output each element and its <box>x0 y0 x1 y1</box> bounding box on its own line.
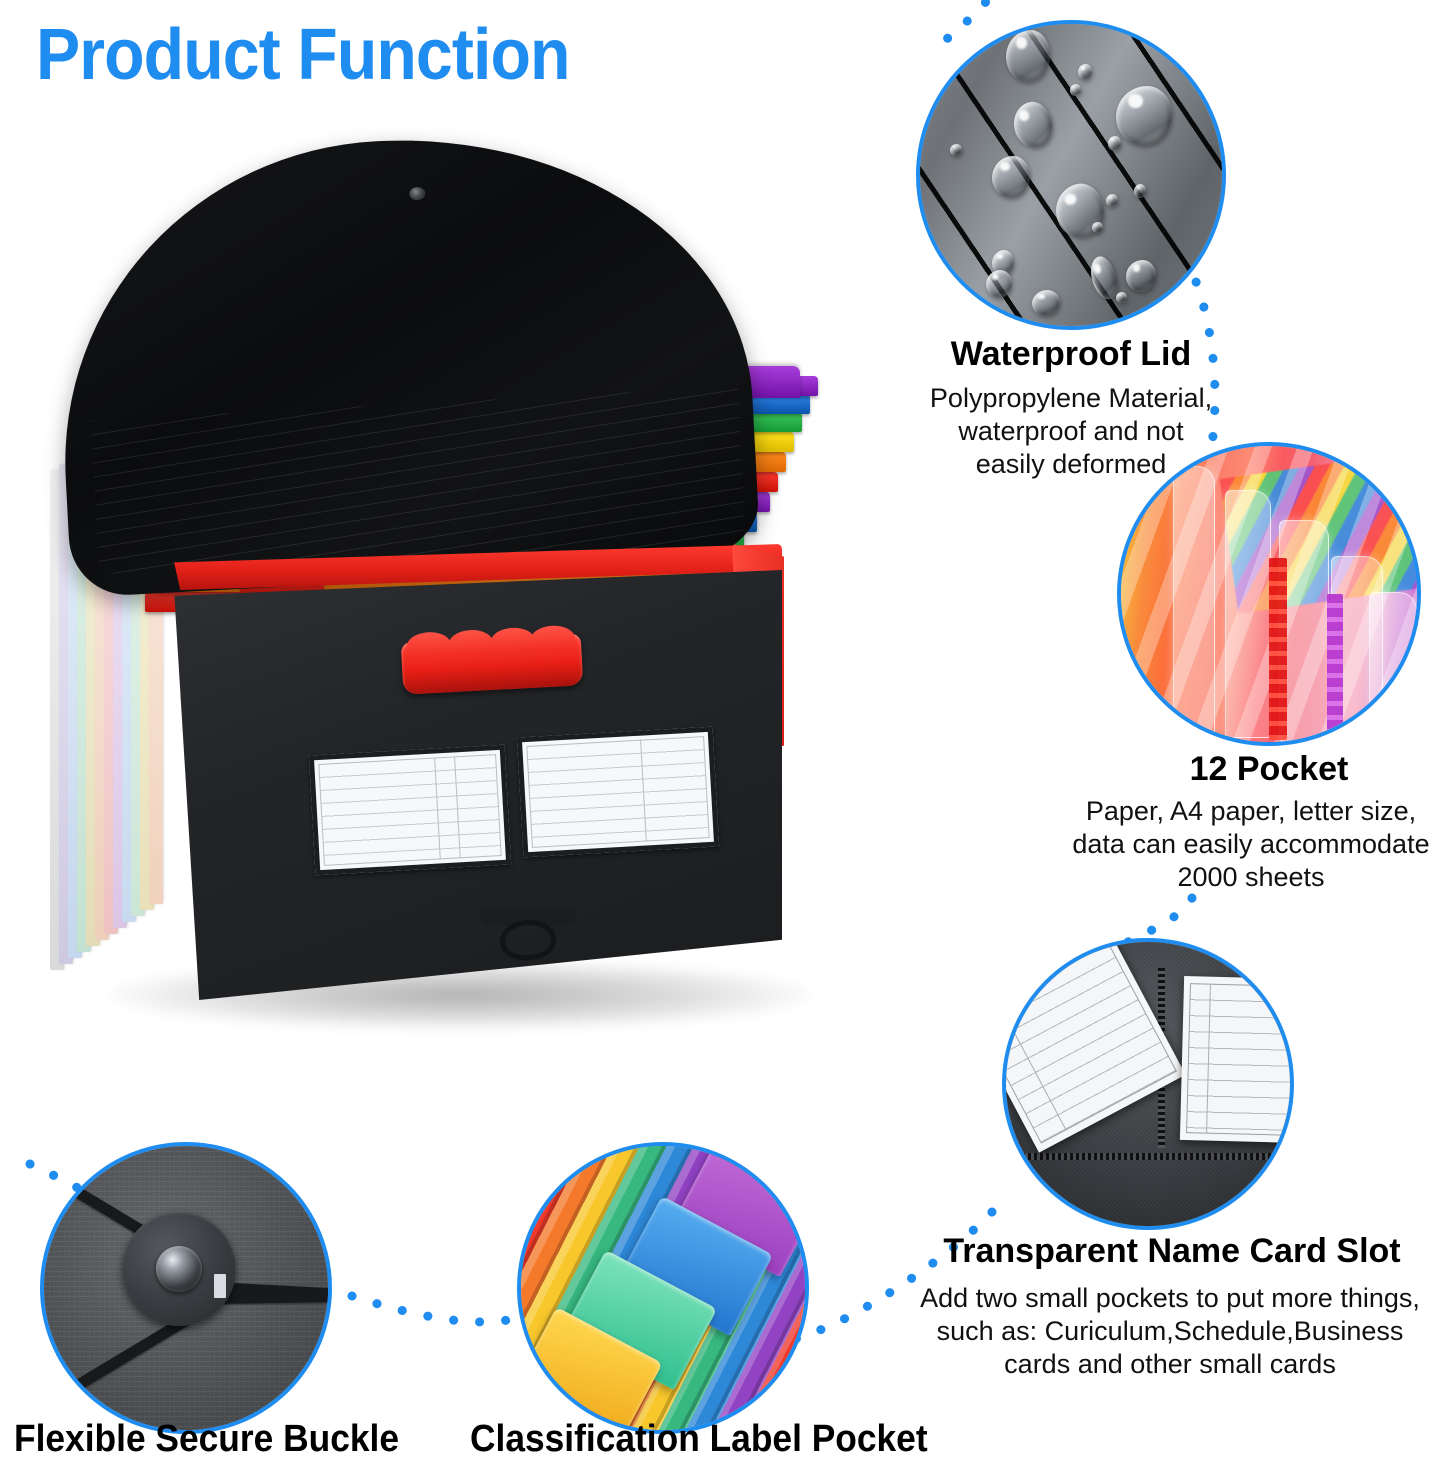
name-card-slot-right <box>517 727 719 858</box>
lid-rivet-icon <box>409 187 426 201</box>
buckle-button-icon <box>156 1246 202 1292</box>
callout-body-line: 2000 sheets <box>1056 861 1443 894</box>
carry-handle <box>401 633 583 694</box>
callout-body-line: Paper, A4 paper, letter size, <box>1056 795 1443 828</box>
callout-body-line: Add two small pockets to put more things… <box>896 1282 1443 1315</box>
callout-heading-secure-buckle: Flexible Secure Buckle <box>14 1418 399 1461</box>
callout-heading-waterproof-lid: Waterproof Lid <box>881 335 1261 374</box>
callout-image-waterproof-lid <box>916 20 1226 330</box>
infographic-canvas: Product Function <box>0 0 1443 1470</box>
callout-image-label-pocket <box>517 1142 809 1434</box>
callout-body-line: cards and other small cards <box>896 1348 1443 1381</box>
callout-body-name-card-slot: Add two small pockets to put more things… <box>896 1282 1443 1381</box>
name-card-upright <box>1180 976 1294 1144</box>
callout-image-name-card-slot <box>1002 938 1294 1230</box>
waterproof-lid-flap <box>49 122 761 598</box>
callout-image-secure-buckle <box>40 1142 332 1434</box>
callout-body-line: data can easily accommodate <box>1056 828 1443 861</box>
callout-heading-twelve-pocket: 12 Pocket <box>1069 750 1443 789</box>
callout-body-line: waterproof and not <box>881 415 1261 448</box>
callout-heading-name-card-slot: Transparent Name Card Slot <box>900 1232 1443 1271</box>
page-title: Product Function <box>36 14 570 96</box>
callout-body-line: Polypropylene Material, <box>881 382 1261 415</box>
callout-heading-label-pocket: Classification Label Pocket <box>470 1418 928 1461</box>
callout-image-twelve-pocket <box>1117 442 1421 746</box>
name-card-slot-left <box>309 745 511 876</box>
callout-body-line: such as: Curiculum,Schedule,Business <box>896 1315 1443 1348</box>
product-hero-image <box>50 140 860 1040</box>
callout-body-twelve-pocket: Paper, A4 paper, letter size, data can e… <box>1056 795 1443 894</box>
